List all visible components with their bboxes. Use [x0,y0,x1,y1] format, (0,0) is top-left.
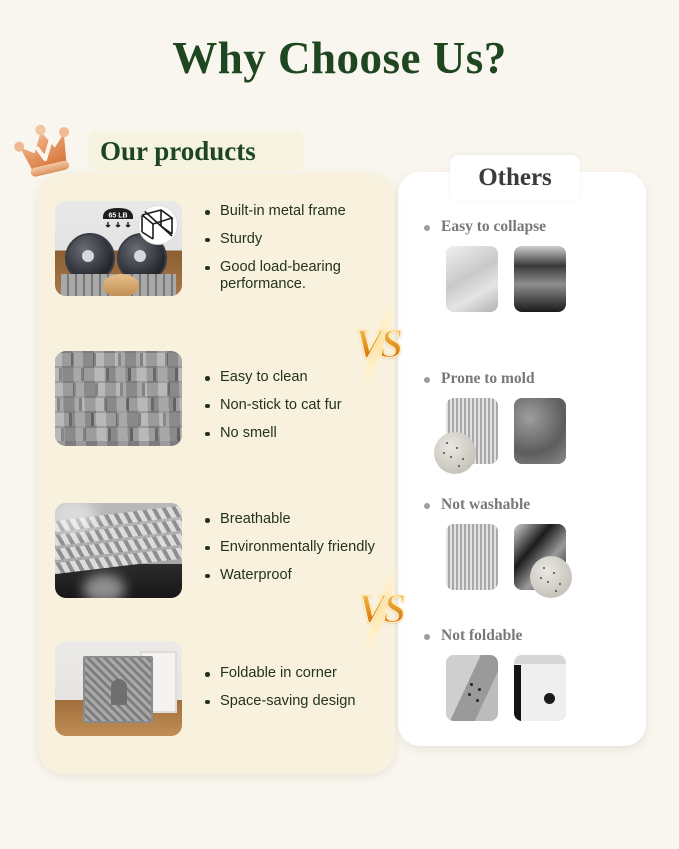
others-group-1: Easy to collapse [424,218,582,312]
our-product-row-2: Easy to clean Non-stick to cat fur No sm… [55,351,342,468]
our-product-bullets-4: Foldable in corner Space-saving design [204,641,355,721]
bullet-item: Environmentally friendly [204,539,375,557]
vs-badge-top: VS [346,303,410,389]
others-group-4: Not foldable [424,627,582,721]
others-photo-mold-stain [514,398,566,464]
vs-label: VS [346,319,410,367]
page-title: Why Choose Us? [0,34,679,84]
product-photo-foldable-corner [55,641,182,736]
weight-badge-icon: 65 LB [95,205,141,231]
bullet-item: Easy to clean [204,369,342,387]
others-group-2: Prone to mold [424,370,582,464]
others-group-label: Prone to mold [424,370,582,388]
others-photo-collapsed-bag [446,246,498,312]
others-group-label: Not foldable [424,627,582,645]
dirt-closeup-circle [530,556,572,598]
product-photo-breathable-mesh [55,503,182,598]
bullet-item: Good load-bearing performance. [204,259,405,295]
our-product-row-4: Foldable in corner Space-saving design [55,641,355,737]
bullet-item: Sturdy [204,231,405,249]
others-photo-collapsed-tent [514,246,566,312]
mold-closeup-circle [434,432,476,474]
others-photo-rigid-box [514,655,566,721]
tab-our-products: Our products [88,131,304,171]
vs-badge-bottom: VS [349,568,413,654]
bullet-item: No smell [204,425,342,443]
others-photo-dirty-ribbed [446,524,498,590]
product-photo-woven-weave [55,351,182,446]
others-group-3: Not washable [424,496,582,590]
bullet-item: Built-in metal frame [204,203,405,221]
vs-label: VS [349,584,413,632]
others-photo-rigid-cube [446,655,498,721]
metal-frame-inset-icon [138,205,178,245]
product-photo-metal-frame: 65 LB [55,201,182,296]
others-group-label: Not washable [424,496,582,514]
others-group-label: Easy to collapse [424,218,582,236]
bullet-item: Breathable [204,511,375,529]
tab-others: Others [450,155,580,200]
svg-text:65 LB: 65 LB [108,213,127,220]
our-product-row-3: Breathable Environmentally friendly Wate… [55,503,375,610]
our-product-bullets-1: Built-in metal frame Sturdy Good load-be… [204,201,405,304]
bullet-item: Non-stick to cat fur [204,397,342,415]
bullet-item: Foldable in corner [204,665,355,683]
bullet-item: Space-saving design [204,693,355,711]
our-product-bullets-2: Easy to clean Non-stick to cat fur No sm… [204,351,342,452]
crown-icon [8,114,82,188]
